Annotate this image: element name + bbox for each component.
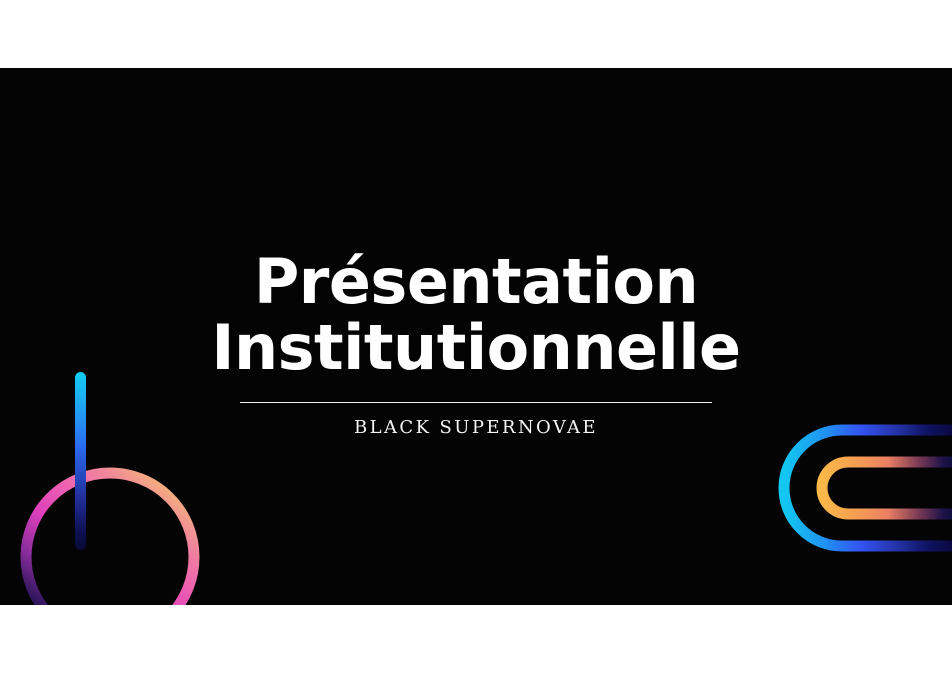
title-block: Présentation Institutionnelle BLACK SUPE…: [0, 68, 952, 605]
title-divider: [240, 402, 712, 403]
slide-canvas: Présentation Institutionnelle BLACK SUPE…: [0, 0, 952, 673]
presentation-slide: Présentation Institutionnelle BLACK SUPE…: [0, 68, 952, 605]
slide-subtitle: BLACK SUPERNOVAE: [354, 417, 598, 438]
slide-title-line-1: Présentation: [254, 249, 698, 315]
slide-title-line-2: Institutionnelle: [211, 315, 740, 381]
